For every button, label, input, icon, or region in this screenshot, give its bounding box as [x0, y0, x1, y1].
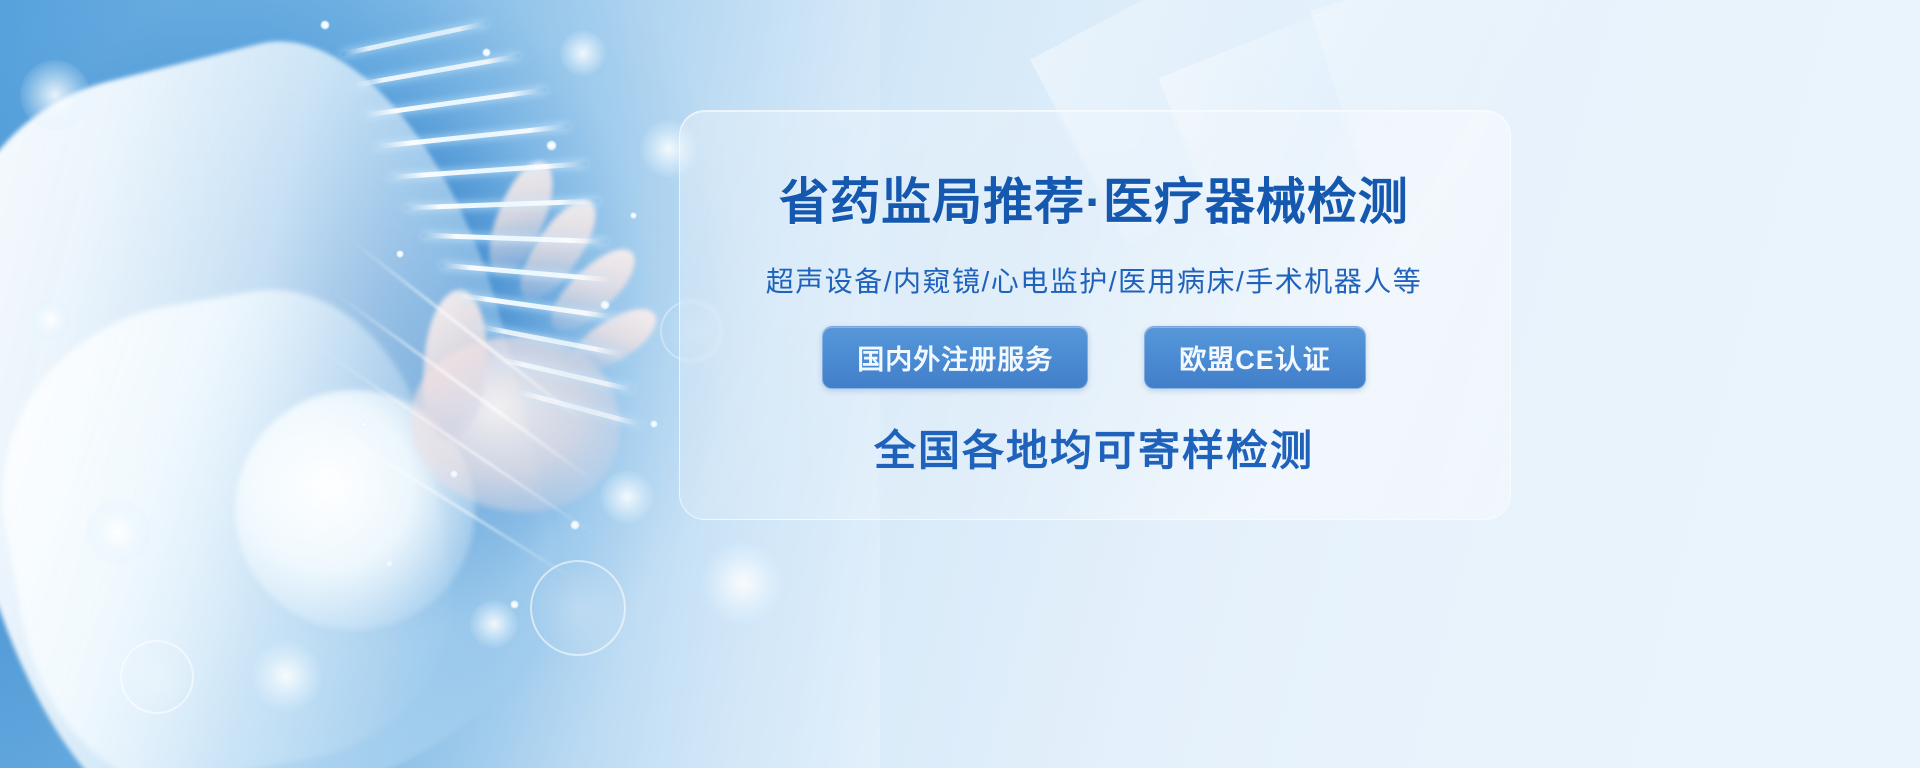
bokeh-1 [20, 60, 90, 130]
bokeh-2 [560, 30, 606, 76]
registration-service-button[interactable]: 国内外注册服务 [822, 326, 1088, 389]
banner-subtitle: 超声设备/内窥镜/心电监护/医用病床/手术机器人等 [766, 260, 1423, 300]
banner-button-row: 国内外注册服务 欧盟CE认证 [822, 326, 1366, 389]
banner-content: 省药监局推荐·医疗器械检测 超声设备/内窥镜/心电监护/医用病床/手术机器人等 … [679, 110, 1509, 518]
bokeh-6 [86, 500, 150, 564]
bokeh-4 [700, 540, 786, 626]
bokeh-8 [470, 600, 518, 648]
banner-tagline: 全国各地均可寄样检测 [874, 417, 1314, 478]
banner-title: 省药监局推荐·医疗器械检测 [779, 162, 1409, 234]
bokeh-9 [30, 300, 70, 340]
bokeh-7 [250, 640, 322, 712]
bokeh-ring-1 [530, 560, 626, 656]
bokeh-ring-2 [120, 640, 194, 714]
eu-ce-certification-button[interactable]: 欧盟CE认证 [1144, 326, 1366, 389]
medical-device-testing-banner: 省药监局推荐·医疗器械检测 超声设备/内窥镜/心电监护/医用病床/手术机器人等 … [0, 0, 1920, 768]
bokeh-5 [600, 470, 654, 524]
